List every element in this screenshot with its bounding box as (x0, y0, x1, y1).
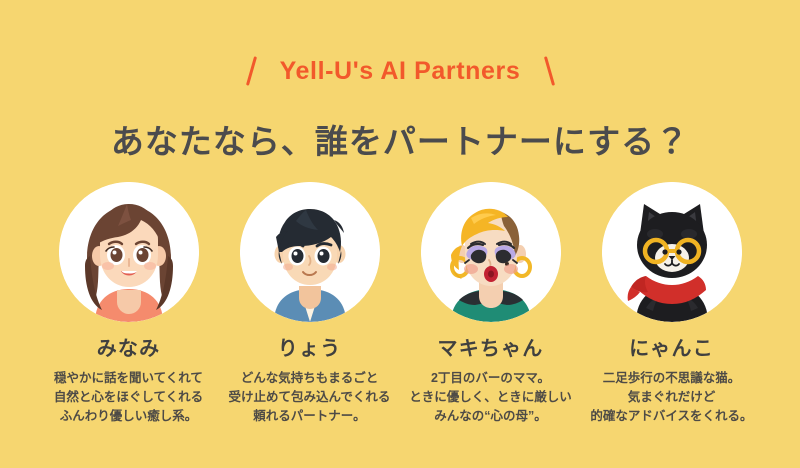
partner-card-maki-chan[interactable]: マキちゃん 2丁目のバーのママ。 ときに優しく、ときに厳しい みんなの“心の母”… (400, 182, 581, 426)
partner-card-ryo[interactable]: りょう どんな気持ちもまるごと 受け止めて包み込んでくれる 頼れるパートナー。 (219, 182, 400, 426)
partner-description: 二足歩行の不思議な猫。 気まぐれだけど 的確なアドバイスをくれる。 (590, 369, 752, 426)
page-title: あなたなら、誰をパートナーにする？ (0, 120, 800, 164)
partner-description: 2丁目のバーのママ。 ときに優しく、ときに厳しい みんなの“心の母”。 (409, 369, 572, 426)
slash-decoration-icon (542, 56, 556, 86)
partners-page: Yell-U's AI Partners あなたなら、誰をパートナーにする？ (0, 0, 800, 468)
backslash-decoration-icon (244, 56, 258, 86)
partner-name: にゃんこ (629, 336, 714, 362)
partner-description: どんな気持ちもまるごと 受け止めて包み込んでくれる 頼れるパートナー。 (229, 369, 391, 426)
partner-card-nyanko[interactable]: にゃんこ 二足歩行の不思議な猫。 気まぐれだけど 的確なアドバイスをくれる。 (581, 182, 762, 426)
partner-name: マキちゃん (438, 336, 544, 362)
man-short-black-hair-avatar (240, 182, 380, 322)
partner-name: みなみ (97, 336, 161, 362)
woman-long-brown-hair-avatar (59, 182, 199, 322)
partner-card-minami[interactable]: みなみ 穏やかに話を聞いてくれて 自然と心をほぐしてくれる ふんわり優しい癒し系… (38, 182, 219, 426)
blonde-drag-mama-avatar (421, 182, 561, 322)
partner-name: りょう (278, 336, 342, 362)
kicker-label: Yell-U's AI Partners (280, 56, 521, 86)
partner-card-list: みなみ 穏やかに話を聞いてくれて 自然と心をほぐしてくれる ふんわり優しい癒し系… (38, 182, 762, 426)
black-cat-glasses-avatar (602, 182, 742, 322)
partner-description: 穏やかに話を聞いてくれて 自然と心をほぐしてくれる ふんわり優しい癒し系。 (54, 369, 203, 426)
kicker: Yell-U's AI Partners (0, 56, 800, 86)
